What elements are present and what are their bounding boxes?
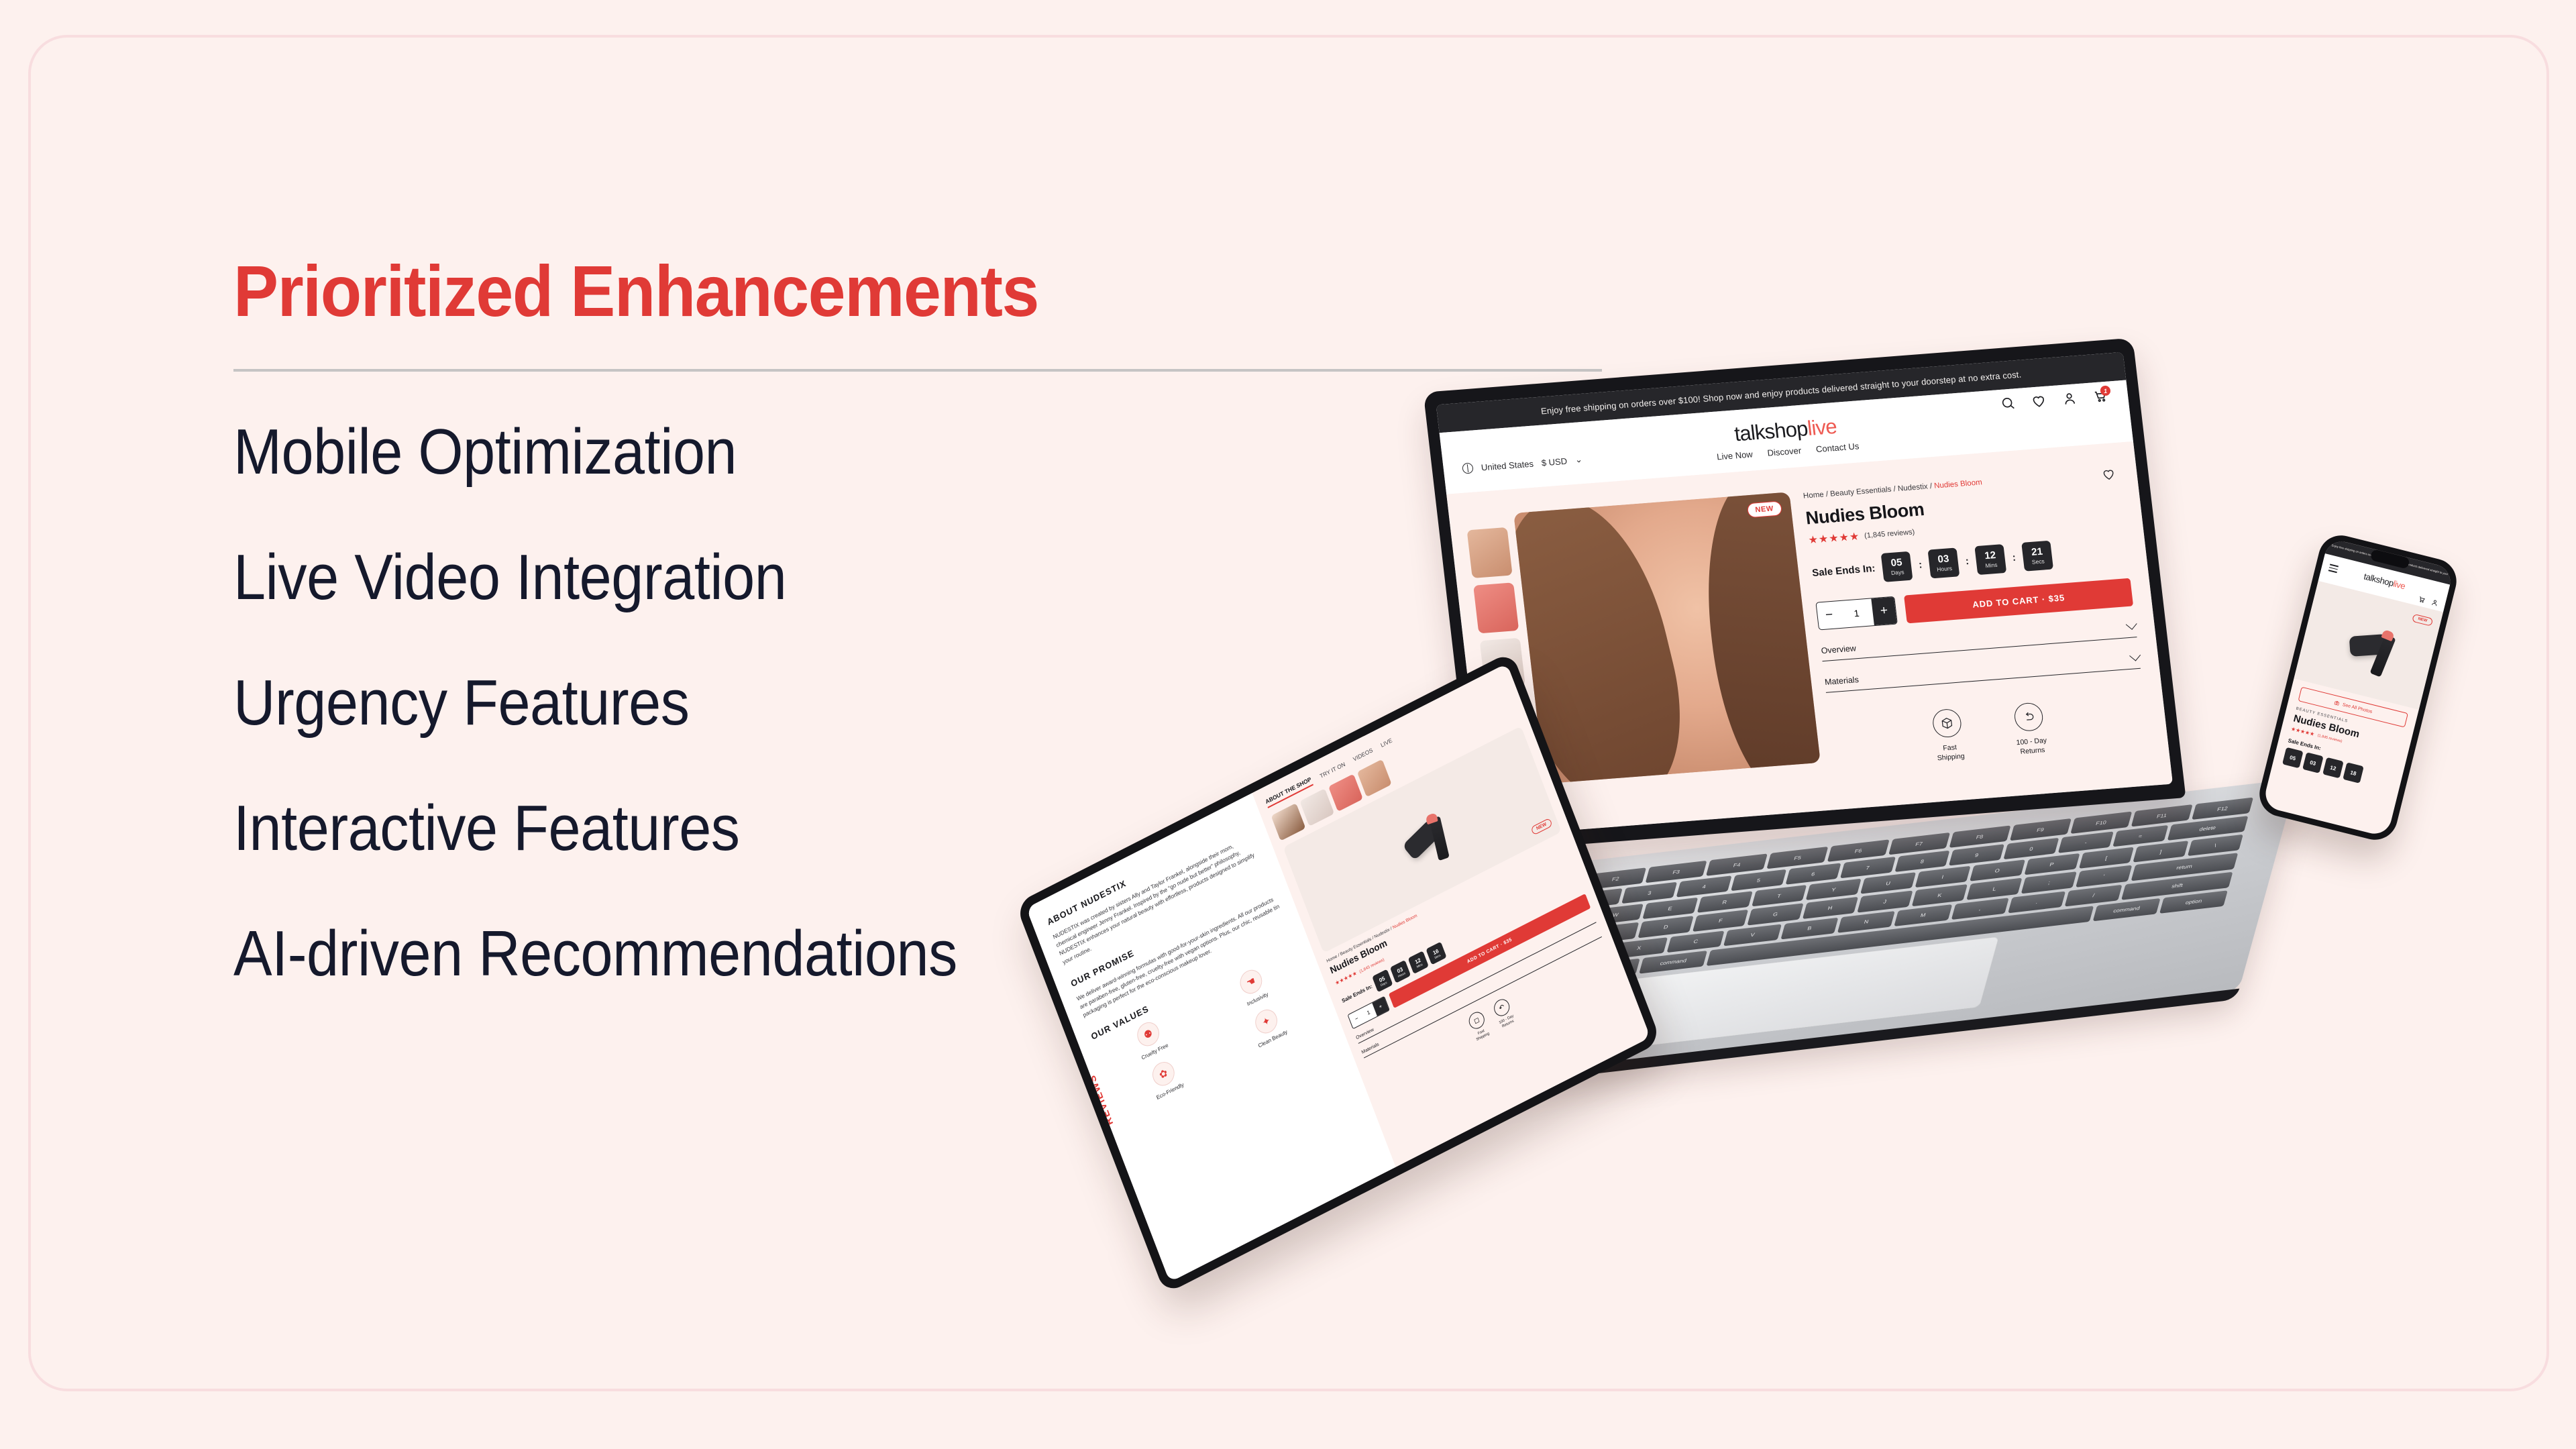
brand-name: talkshop — [1733, 417, 1809, 445]
countdown-secs-value: 21 — [2031, 547, 2043, 557]
header-icon-group: 1 — [2000, 388, 2108, 411]
gallery-thumbnail[interactable] — [1328, 774, 1363, 812]
accordion-materials[interactable]: Materials — [1824, 653, 2141, 693]
tab-live[interactable]: LIVE — [1379, 737, 1393, 749]
see-all-photos-label: See All Photos — [2342, 702, 2373, 714]
countdown-hours: 03 Hours — [1928, 547, 1960, 578]
nav-item-live-now[interactable]: Live Now — [1716, 449, 1753, 462]
hamburger-icon[interactable] — [2328, 563, 2339, 575]
cart-icon[interactable]: 1 — [2092, 388, 2108, 405]
leaf-icon: ✿ — [1149, 1058, 1178, 1089]
countdown-separator: : — [1965, 555, 1970, 567]
gallery-thumbnail[interactable] — [1467, 527, 1513, 578]
sparkle-icon: ✦ — [1252, 1006, 1281, 1037]
accordion-overview[interactable]: Overview — [1821, 622, 2137, 661]
gallery-thumbnail[interactable] — [1357, 759, 1392, 798]
nav-item-contact-us[interactable]: Contact Us — [1815, 441, 1860, 454]
new-badge: NEW — [1530, 818, 1553, 836]
locale-country: United States — [1481, 458, 1534, 472]
tab-try-it-on[interactable]: TRY IT ON — [1319, 760, 1346, 779]
new-badge: NEW — [1746, 500, 1782, 518]
product-perks: Fast Shipping 100 - Day Returns — [1829, 694, 2149, 771]
countdown-secs: 16 Secs — [1426, 942, 1446, 965]
accordion-materials-label: Materials — [1824, 675, 1859, 687]
tab-videos[interactable]: VIDEOS — [1352, 746, 1373, 762]
brand-suffix: live — [1806, 415, 1837, 440]
countdown-mins: 12 Mins — [1975, 544, 2007, 575]
cart-badge: 1 — [2100, 385, 2111, 396]
breadcrumb-current: Nudies Bloom — [1934, 478, 1983, 490]
countdown-days-value: 05 — [1890, 557, 1902, 568]
quantity-increase-button[interactable]: + — [1372, 997, 1389, 1016]
sale-ends-label: Sale Ends In: — [1341, 983, 1373, 1004]
heart-icon[interactable] — [2031, 393, 2047, 409]
product-hero-image[interactable]: NEW — [1513, 492, 1821, 784]
product-stick-artwork — [2348, 631, 2390, 660]
countdown-days: 05 Days — [1372, 969, 1393, 992]
site-logo[interactable]: talkshoplive — [1733, 415, 1838, 446]
countdown-separator: : — [2012, 552, 2017, 563]
paw-icon: ⚉ — [1134, 1018, 1163, 1050]
slide-canvas: Prioritized Enhancements Mobile Optimiza… — [0, 0, 2576, 1449]
breadcrumb-path: Home / Beauty Essentials / Nudestix / — [1803, 482, 1932, 500]
sale-ends-label: Sale Ends In: — [1811, 563, 1876, 579]
new-badge: NEW — [2412, 614, 2433, 627]
countdown-days-unit: Days — [1891, 569, 1904, 576]
countdown-hours: 03 — [2302, 752, 2324, 773]
person-icon[interactable] — [2061, 390, 2078, 407]
countdown-hours-value: 03 — [1937, 553, 1949, 564]
quantity-increase-button[interactable]: + — [1871, 597, 1897, 625]
brand-suffix: live — [2392, 578, 2406, 591]
add-to-cart-button[interactable]: ADD TO CART · $35 — [1904, 578, 2133, 624]
countdown-secs: 21 Secs — [2021, 541, 2053, 572]
globe-icon — [1462, 463, 1474, 474]
countdown-hours-unit: Hours — [1937, 565, 1953, 573]
star-rating-icon: ★★★★★ — [1808, 530, 1861, 547]
perk-returns: ↶ 100 - Day Returns — [1492, 996, 1517, 1030]
return-arrow-icon — [2013, 702, 2045, 732]
quantity-decrease-button[interactable]: − — [1816, 601, 1842, 629]
perk-returns: 100 - Day Returns — [1999, 701, 2061, 758]
brand-name: talkshop — [2363, 571, 2395, 588]
nav-item-discover[interactable]: Discover — [1767, 445, 1802, 458]
device-mockup-cluster: esc F1 F2 F3 F4 F5 F6 F7 F8 F9 F10 F11 F… — [1046, 349, 2542, 1368]
perk-fast-shipping: ◻ Fast Shipping — [1466, 1009, 1491, 1043]
countdown-separator: : — [1918, 559, 1923, 571]
gallery-thumbnail[interactable] — [1299, 788, 1334, 826]
countdown-days: 05 — [2282, 747, 2304, 769]
quantity-stepper[interactable]: − 1 + — [1815, 596, 1898, 631]
chevron-down-icon: ⌄ — [1574, 454, 1583, 466]
chevron-down-icon — [2129, 650, 2141, 661]
countdown-hours: 03 Hours — [1390, 960, 1411, 983]
countdown-days: 05 Days — [1881, 551, 1913, 582]
search-icon[interactable] — [2000, 395, 2016, 411]
quantity-value: 1 — [1839, 598, 1874, 627]
countdown-mins-unit: Mins — [1985, 561, 1998, 569]
gallery-thumbnail[interactable] — [1473, 582, 1519, 633]
model-photo — [1513, 492, 1821, 784]
perk-fast-shipping: Fast Shipping — [1917, 707, 1980, 764]
wishlist-heart-icon[interactable] — [2101, 467, 2116, 481]
hands-icon: ☚ — [1237, 966, 1266, 998]
gallery-thumbnail[interactable] — [1271, 803, 1305, 841]
locale-currency: $ USD — [1541, 455, 1568, 468]
product-info: Home / Beauty Essentials / Nudestix / Nu… — [1802, 458, 2155, 810]
review-count: (1,845 reviews) — [1864, 528, 1915, 540]
accordion-overview-label: Overview — [1821, 643, 1857, 655]
countdown-mins: 12 — [2322, 757, 2344, 779]
chevron-down-icon — [2126, 619, 2137, 630]
site-logo[interactable]: talkshoplive — [2363, 571, 2406, 591]
countdown-mins-value: 12 — [1984, 550, 1996, 561]
page-title: Prioritized Enhancements — [233, 255, 1519, 327]
purchase-controls: − 1 + ADD TO CART · $35 — [1815, 578, 2133, 631]
package-check-icon — [1931, 708, 1963, 739]
product-stick-artwork — [1402, 822, 1443, 858]
countdown-secs-unit: Secs — [2031, 557, 2045, 565]
countdown-secs: 18 — [2343, 762, 2364, 784]
locale-selector[interactable]: United States $ USD ⌄ — [1462, 454, 1583, 474]
countdown-mins: 12 Mins — [1408, 951, 1429, 974]
